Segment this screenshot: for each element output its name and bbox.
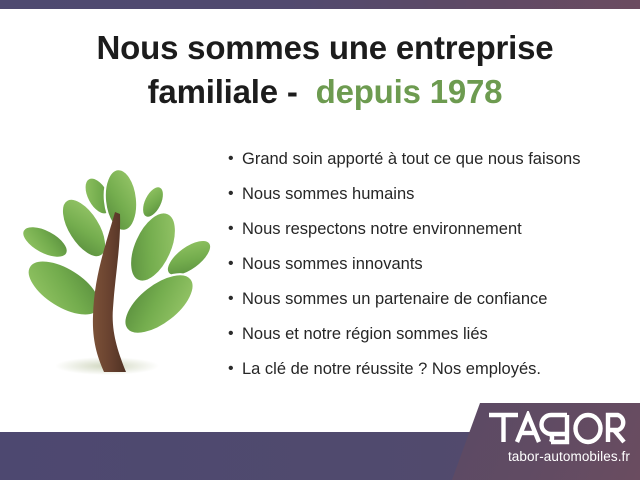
list-item-label: Nous et notre région sommes liés	[242, 323, 628, 345]
list-item: • Nous sommes un partenaire de confiance	[228, 288, 628, 323]
list-item: • Nous respectons notre environnement	[228, 218, 628, 253]
tabor-logo	[487, 411, 627, 445]
list-item-label: Nous sommes innovants	[242, 253, 628, 275]
list-item: • Nous sommes humains	[228, 183, 628, 218]
tree-illustration	[14, 148, 224, 388]
list-item: • Nous et notre région sommes liés	[228, 323, 628, 358]
list-item-label: Grand soin apporté à tout ce que nous fa…	[242, 148, 628, 170]
bullet-icon: •	[228, 323, 242, 345]
list-item: • Grand soin apporté à tout ce que nous …	[228, 148, 628, 183]
list-item: • La clé de notre réussite ? Nos employé…	[228, 358, 628, 393]
top-accent-strip	[0, 0, 640, 9]
list-item-label: Nous sommes un partenaire de confiance	[242, 288, 628, 310]
bullet-icon: •	[228, 288, 242, 310]
page-title: Nous sommes une entreprise familiale - d…	[40, 26, 610, 113]
list-item-label: La clé de notre réussite ? Nos employés.	[242, 358, 628, 380]
list-item-label: Nous respectons notre environnement	[242, 218, 628, 240]
brand-tagline: tabor-automobiles.fr	[440, 449, 640, 464]
bullet-icon: •	[228, 183, 242, 205]
bullet-icon: •	[228, 358, 242, 380]
benefits-list: • Grand soin apporté à tout ce que nous …	[228, 148, 628, 393]
page-title-line-2-main: familiale -	[148, 73, 316, 110]
promotional-slide: Nous sommes une entreprise familiale - d…	[0, 0, 640, 480]
bullet-icon: •	[228, 148, 242, 170]
list-item: • Nous sommes innovants	[228, 253, 628, 288]
bullet-icon: •	[228, 253, 242, 275]
bullet-icon: •	[228, 218, 242, 240]
list-item-label: Nous sommes humains	[242, 183, 628, 205]
page-title-line-1: Nous sommes une entreprise	[40, 26, 610, 70]
page-title-line-2: familiale - depuis 1978	[40, 70, 610, 114]
page-title-accent: depuis 1978	[316, 73, 503, 110]
